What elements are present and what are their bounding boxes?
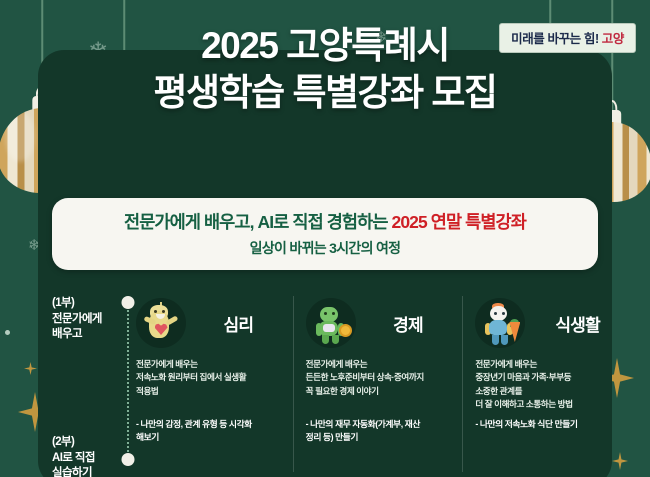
economy-character-icon [306,298,356,348]
part-1-tag: (1부) [52,296,114,312]
subtitle-banner: 전문가에게 배우고, AI로 직접 경험하는 2025 연말 특별강좌 일상이 … [52,198,598,270]
badge-prefix-text: 미래를 바꾸는 힘! [511,32,602,46]
subtitle-line-1: 전문가에게 배우고, AI로 직접 경험하는 2025 연말 특별강좌 [62,209,588,234]
poster-canvas: ❄ ❄ ❄ ❄ ❄ 미래를 바꾸는 힘! 고양 [0,0,650,477]
course-desc-diet: 전문가에게 배우는 중장년기 마음과 가족·부부등 소중한 관계를 더 잘 이해… [475,358,624,411]
sparkle-star-icon [24,362,37,375]
course-bullet-diet: - 나만의 저속노화 식단 만들기 [475,418,577,431]
badge-highlight-text: 고양 [602,32,624,46]
rail-dotted-line [127,306,129,456]
program-parts-list: (1부) 전문가에게 배우고 (2부) AI로 직접 실습하기 [52,296,114,477]
course-name-diet: 식생활 [531,311,624,336]
course-header: 경제 [306,296,455,350]
part-2-tag: (2부) [52,435,114,451]
part-1-text: 전문가에게 배우고 [52,312,114,343]
course-bullet-economy: - 나만의 재무 자동화(가계부, 재산 정리 등) 만들기 [306,418,420,444]
subtitle-red-text: 2025 연말 특별강좌 [392,212,526,232]
course-desc-economy: 전문가에게 배우는 든든한 노후준비부터 상속·증여까지 꼭 필요한 경제 이야… [306,358,455,398]
course-column-diet: 식생활 전문가에게 배우는 중장년기 마음과 가족·부부등 소중한 관계를 더 … [462,296,632,472]
course-name-economy: 경제 [362,311,455,336]
course-columns: 심리 전문가에게 배우는 저속노화 원리부터 집에서 실생활 적용법 - 나만의… [136,296,632,472]
diet-character-icon [475,298,525,348]
course-name-psychology: 심리 [192,311,285,336]
course-desc-psychology: 전문가에게 배우는 저속노화 원리부터 집에서 실생활 적용법 [136,358,285,398]
parts-connector-rail [120,296,136,466]
title-line-2: 평생학습 특별강좌 모집 [0,69,650,116]
course-column-psychology: 심리 전문가에게 배우는 저속노화 원리부터 집에서 실생활 적용법 - 나만의… [136,296,293,472]
course-bullet-psychology: - 나만의 감정, 관계 유형 등 시각화 해보기 [136,418,252,444]
course-column-economy: 경제 전문가에게 배우는 든든한 노후준비부터 상속·증여까지 꼭 필요한 경제… [293,296,463,472]
course-header: 식생활 [475,296,624,350]
part-2-text: AI로 직접 실습하기 [52,451,114,477]
subtitle-green-text: 전문가에게 배우고, AI로 직접 경험하는 [124,212,391,232]
part-item-2: (2부) AI로 직접 실습하기 [52,435,114,477]
subtitle-line-2: 일상이 바뀌는 3시간의 여정 [62,238,588,258]
rail-knob-top [122,296,135,309]
part-item-1: (1부) 전문가에게 배우고 [52,296,114,343]
course-header: 심리 [136,296,285,350]
rail-knob-bottom [122,453,135,466]
psychology-character-icon [136,298,186,348]
city-brand-badge: 미래를 바꾸는 힘! 고양 [499,23,636,53]
sparkle-dot [5,330,10,335]
